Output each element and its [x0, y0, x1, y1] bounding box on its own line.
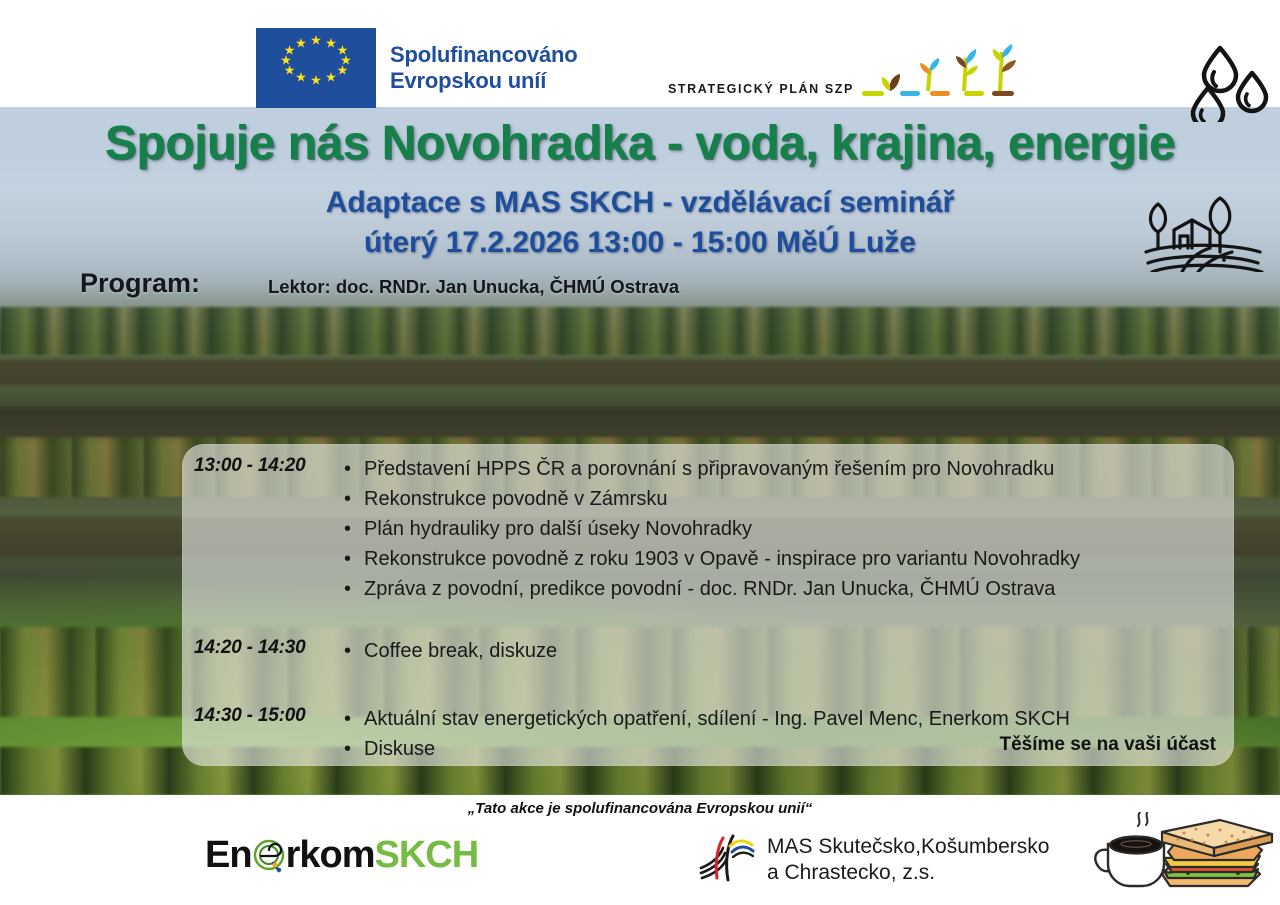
- program-time-slot: 14:30 - 15:00: [182, 704, 344, 727]
- program-item-list: • Představení HPPS ČR a porovnání s přip…: [344, 454, 1234, 604]
- eu-cofunding-logo: ★ ★ ★ ★ ★ ★ ★ ★ ★ ★ ★ ★ Spolufinancováno…: [256, 28, 577, 108]
- mas-logo-text-line-2: a Chrastecko, z.s.: [767, 860, 1049, 886]
- european-union-flag-icon: ★ ★ ★ ★ ★ ★ ★ ★ ★ ★ ★ ★: [256, 28, 376, 108]
- poster-title: Spojuje nás Novohradka - voda, krajina, …: [0, 116, 1280, 171]
- program-item: • Rekonstrukce povodně v Zámrsku: [344, 484, 1234, 514]
- eu-text-line-2: Evropskou uníí: [390, 68, 577, 94]
- program-time-slot: 14:20 - 14:30: [182, 636, 344, 659]
- enerkom-text-skch: SKCH: [374, 834, 478, 877]
- eu-text-line-1: Spolufinancováno: [390, 42, 577, 68]
- program-item-text: Coffee break, diskuze: [364, 636, 557, 666]
- closing-note: Těšíme se na vaši účast: [999, 734, 1216, 756]
- program-group: 13:00 - 14:20 • Představení HPPS ČR a po…: [182, 454, 1234, 604]
- program-item: • Aktuální stav energetických opatření, …: [344, 704, 1234, 734]
- szp-sprout-mark-icon: [860, 44, 1030, 102]
- program-item-text: Plán hydrauliky pro další úseky Novohrad…: [364, 514, 752, 544]
- eu-financing-note: „Tato akce je spolufinancována Evropskou…: [0, 800, 1280, 817]
- bullet-icon: •: [344, 636, 364, 666]
- program-item-text: Představení HPPS ČR a porovnání s připra…: [364, 454, 1054, 484]
- bullet-icon: •: [344, 544, 364, 574]
- lecturer-line: Lektor: doc. RNDr. Jan Unucka, ČHMÚ Ostr…: [268, 276, 679, 298]
- szp-logo-text: STRATEGICKÝ PLÁN SZP: [668, 82, 854, 96]
- bullet-icon: •: [344, 454, 364, 484]
- poster-canvas: ★ ★ ★ ★ ★ ★ ★ ★ ★ ★ ★ ★ Spolufinancováno…: [0, 0, 1280, 905]
- mas-logo-mark-icon: [697, 832, 755, 888]
- program-item-text: Aktuální stav energetických opatření, sd…: [364, 704, 1070, 734]
- bullet-icon: •: [344, 514, 364, 544]
- enerkom-text-part-2: rkom: [286, 834, 375, 877]
- photo-field-stripe: [0, 359, 1280, 385]
- program-item: • Zpráva z povodní, predikce povodní - d…: [344, 574, 1234, 604]
- bullet-icon: •: [344, 574, 364, 604]
- program-item-text: Rekonstrukce povodně v Zámrsku: [364, 484, 667, 514]
- water-drops-icon: [1186, 44, 1274, 122]
- program-time-slot: 13:00 - 14:20: [182, 454, 344, 477]
- program-item-text: Rekonstrukce povodně z roku 1903 v Opavě…: [364, 544, 1080, 574]
- program-item: • Rekonstrukce povodně z roku 1903 v Opa…: [344, 544, 1234, 574]
- mas-logo-text: MAS Skutečsko,Košumbersko a Chrastecko, …: [767, 834, 1049, 886]
- enerkom-text-part-1: En: [205, 834, 252, 877]
- poster-subtitle-datetime: úterý 17.2.2026 13:00 - 15:00 MěÚ Luže: [0, 226, 1280, 260]
- photo-field-stripe: [0, 407, 1280, 441]
- mas-skch-logo: MAS Skutečsko,Košumbersko a Chrastecko, …: [697, 832, 1049, 888]
- photo-treeline: [0, 307, 1280, 355]
- program-item: • Plán hydrauliky pro další úseky Novohr…: [344, 514, 1234, 544]
- program-item-list: • Coffee break, diskuze: [344, 636, 1234, 666]
- program-item: • Představení HPPS ČR a porovnání s přip…: [344, 454, 1234, 484]
- program-item-text: Zpráva z povodní, predikce povodní - doc…: [364, 574, 1055, 604]
- bullet-icon: •: [344, 704, 364, 734]
- enerkom-swirl-icon: [251, 837, 287, 875]
- program-heading: Program:: [80, 268, 200, 299]
- bullet-icon: •: [344, 484, 364, 514]
- program-item-text: Diskuse: [364, 734, 435, 764]
- program-item: • Coffee break, diskuze: [344, 636, 1234, 666]
- program-group: 14:20 - 14:30 • Coffee break, diskuze: [182, 636, 1234, 666]
- szp-strategic-plan-logo: STRATEGICKÝ PLÁN SZP: [668, 44, 1030, 102]
- mas-logo-text-line-1: MAS Skutečsko,Košumbersko: [767, 834, 1049, 860]
- poster-subtitle-event: Adaptace s MAS SKCH - vzdělávací seminář: [0, 186, 1280, 220]
- program-content: 13:00 - 14:20 • Představení HPPS ČR a po…: [182, 444, 1234, 766]
- enerkom-skch-logo: En rkom SKCH: [205, 834, 478, 877]
- farm-field-icon: [1136, 190, 1268, 272]
- bullet-icon: •: [344, 734, 364, 764]
- header-band: ★ ★ ★ ★ ★ ★ ★ ★ ★ ★ ★ ★ Spolufinancováno…: [0, 0, 1280, 107]
- footer-band: „Tato akce je spolufinancována Evropskou…: [0, 795, 1280, 905]
- coffee-sandwich-icon: [1092, 812, 1277, 904]
- eu-cofunding-text: Spolufinancováno Evropskou uníí: [390, 42, 577, 94]
